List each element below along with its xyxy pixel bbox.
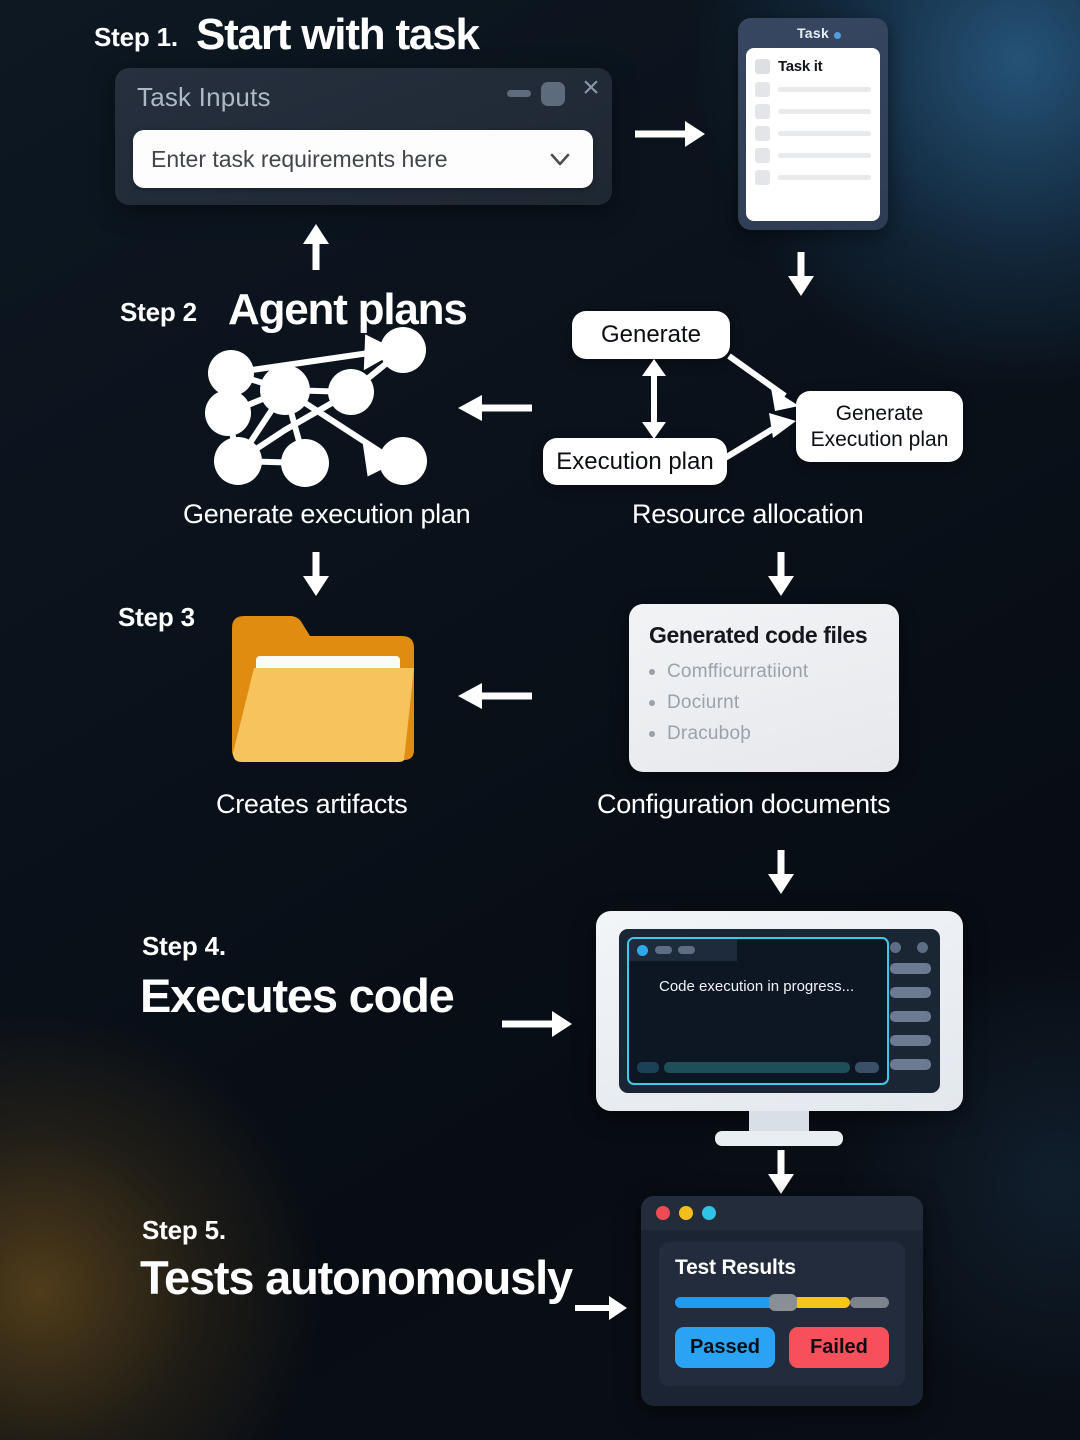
arrow-right-to-test-results (573, 1292, 631, 1324)
bullet-icon (649, 700, 655, 706)
bullet-icon (649, 669, 655, 675)
minimize-icon[interactable] (507, 90, 531, 97)
arrow-down-to-test-results (763, 1148, 799, 1196)
plan-graph-caption: Generate execution plan (183, 499, 470, 530)
box-execution-plan-label: Execution plan (556, 448, 713, 476)
passed-label: Passed (690, 1336, 760, 1359)
tab-placeholder (678, 946, 695, 954)
task-inputs-window[interactable]: Task Inputs × Enter task requirements he… (115, 68, 612, 205)
progress-track (664, 1062, 850, 1073)
code-file-label: Dracuboþ (667, 723, 751, 745)
arrow-left-to-artifacts (452, 678, 534, 714)
task-requirements-input[interactable]: Enter task requirements here (133, 130, 593, 188)
placeholder-bar (778, 87, 871, 92)
test-progress-slider[interactable] (675, 1294, 889, 1310)
graph-node (205, 390, 251, 436)
step-5-number: Step 5. (142, 1215, 226, 1246)
failed-button[interactable]: Failed (789, 1327, 889, 1368)
test-results-body: Test Results Passed Failed (659, 1242, 905, 1386)
checkbox-icon[interactable] (755, 126, 770, 141)
status-dot-icon (834, 32, 841, 39)
test-window-titlebar (641, 1196, 923, 1230)
step-1-number: Step 1. (94, 22, 178, 53)
arrow-right-to-monitor (500, 1007, 578, 1041)
code-execution-status: Code execution in progress... (659, 977, 869, 997)
box-generate-label: Generate (601, 321, 701, 349)
list-item[interactable]: Task it (755, 58, 871, 75)
slider-handle[interactable] (769, 1294, 797, 1311)
task-card-title: Task (738, 25, 888, 41)
side-bar (890, 1059, 931, 1070)
arrow-bidirectional-generate-execplan (634, 358, 674, 440)
side-bar (890, 1035, 931, 1046)
step-3-number: Step 3 (118, 602, 195, 633)
checkbox-icon[interactable] (755, 82, 770, 97)
plan-node-graph (200, 325, 430, 485)
task-list-card[interactable]: Task Task it (738, 18, 888, 230)
box-execution-plan[interactable]: Execution plan (543, 438, 727, 485)
artifacts-caption: Creates artifacts (216, 789, 407, 820)
task-item-label: Task it (778, 58, 822, 75)
graph-node (208, 350, 254, 396)
box-generate-execution-plan[interactable]: Generate Execution plan (796, 391, 963, 462)
arrow-left-to-plan-graph (452, 390, 534, 426)
code-file-label: Dociurnt (667, 692, 739, 714)
step-2-number: Step 2 (120, 297, 197, 328)
infographic-canvas: Step 1. Start with task Task Inputs × En… (0, 0, 1080, 1440)
code-window-titlebar (629, 939, 737, 961)
graph-node (214, 437, 262, 485)
placeholder-bar (778, 109, 871, 114)
graph-node (260, 365, 310, 415)
placeholder-bar (778, 153, 871, 158)
close-dot-icon[interactable] (656, 1206, 670, 1220)
bullet-icon (649, 731, 655, 737)
test-result-buttons: Passed Failed (675, 1327, 889, 1368)
list-item[interactable] (755, 82, 871, 97)
code-progress-bar (637, 1062, 879, 1073)
box-generate-execution-line2: Execution plan (811, 427, 949, 452)
progress-right-cap (855, 1062, 879, 1073)
monitor-illustration: Code execution in progress... (596, 911, 963, 1146)
graph-node (281, 439, 329, 487)
chevron-down-icon[interactable] (545, 144, 575, 174)
side-bar (890, 963, 931, 974)
arrow-down-task-to-resource (783, 250, 819, 298)
arrow-down-to-monitor (763, 848, 799, 896)
close-icon[interactable]: × (577, 74, 605, 102)
arrow-generate-to-genexec (727, 352, 807, 416)
side-bar (890, 987, 931, 998)
passed-button[interactable]: Passed (675, 1327, 775, 1368)
code-files-title: Generated code files (649, 622, 879, 649)
resource-allocation-caption: Resource allocation (632, 499, 863, 530)
list-item[interactable] (755, 170, 871, 185)
list-item: Dociurnt (649, 692, 879, 714)
tab-placeholder (655, 946, 672, 954)
test-results-window[interactable]: Test Results Passed Failed (641, 1196, 923, 1406)
list-item[interactable] (755, 126, 871, 141)
list-item[interactable] (755, 148, 871, 163)
slider-blue-segment (675, 1297, 778, 1308)
maximize-icon[interactable] (541, 82, 565, 106)
checkbox-icon[interactable] (755, 104, 770, 119)
window-dot-icon (637, 945, 648, 956)
graph-node (379, 437, 427, 485)
arrow-down-to-artifacts (298, 550, 334, 598)
maximize-dot-icon[interactable] (702, 1206, 716, 1220)
step-5-title: Tests autonomously (140, 1250, 572, 1305)
slider-yellow-segment (793, 1297, 851, 1308)
checkbox-icon[interactable] (755, 170, 770, 185)
step-4-number: Step 4. (142, 931, 226, 962)
monitor-bezel: Code execution in progress... (596, 911, 963, 1111)
box-generate-execution-line1: Generate (836, 401, 924, 426)
arrow-right-to-task-card (633, 117, 711, 151)
monitor-side-panel (887, 937, 934, 1085)
box-generate[interactable]: Generate (572, 311, 730, 359)
failed-label: Failed (810, 1336, 868, 1359)
monitor-neck (749, 1111, 809, 1133)
progress-left-cap (637, 1062, 659, 1073)
checkbox-icon[interactable] (755, 59, 770, 74)
monitor-screen: Code execution in progress... (619, 929, 940, 1093)
list-item: Dracuboþ (649, 723, 879, 745)
task-card-sheet: Task it (746, 48, 880, 221)
checkbox-icon[interactable] (755, 148, 770, 163)
side-bar (890, 1011, 931, 1022)
graph-node (380, 327, 426, 373)
code-file-label: Comfficurratiiont (667, 661, 808, 683)
arrow-up-to-task-inputs (298, 222, 334, 272)
code-execution-window: Code execution in progress... (627, 937, 889, 1085)
list-item: Comfficurratiiont (649, 661, 879, 683)
placeholder-bar (778, 131, 871, 136)
slider-gray-segment (850, 1297, 889, 1308)
placeholder-bar (778, 175, 871, 180)
monitor-base (715, 1131, 843, 1146)
arrow-down-to-code-files (763, 550, 799, 598)
side-dot-icon (917, 942, 928, 953)
step-1-title: Start with task (196, 10, 479, 60)
step-4-title: Executes code (140, 968, 454, 1023)
code-files-caption: Configuration documents (597, 789, 890, 820)
list-item[interactable] (755, 104, 871, 119)
graph-node (328, 369, 374, 415)
task-inputs-title: Task Inputs (137, 82, 271, 113)
generated-code-files-card[interactable]: Generated code files Comfficurratiiont D… (629, 604, 899, 772)
test-results-title: Test Results (675, 1256, 889, 1280)
folder-icon (228, 610, 420, 765)
arrow-execplan-to-genexec (723, 410, 803, 466)
task-input-placeholder: Enter task requirements here (151, 146, 545, 173)
minimize-dot-icon[interactable] (679, 1206, 693, 1220)
side-dot-icon (890, 942, 901, 953)
